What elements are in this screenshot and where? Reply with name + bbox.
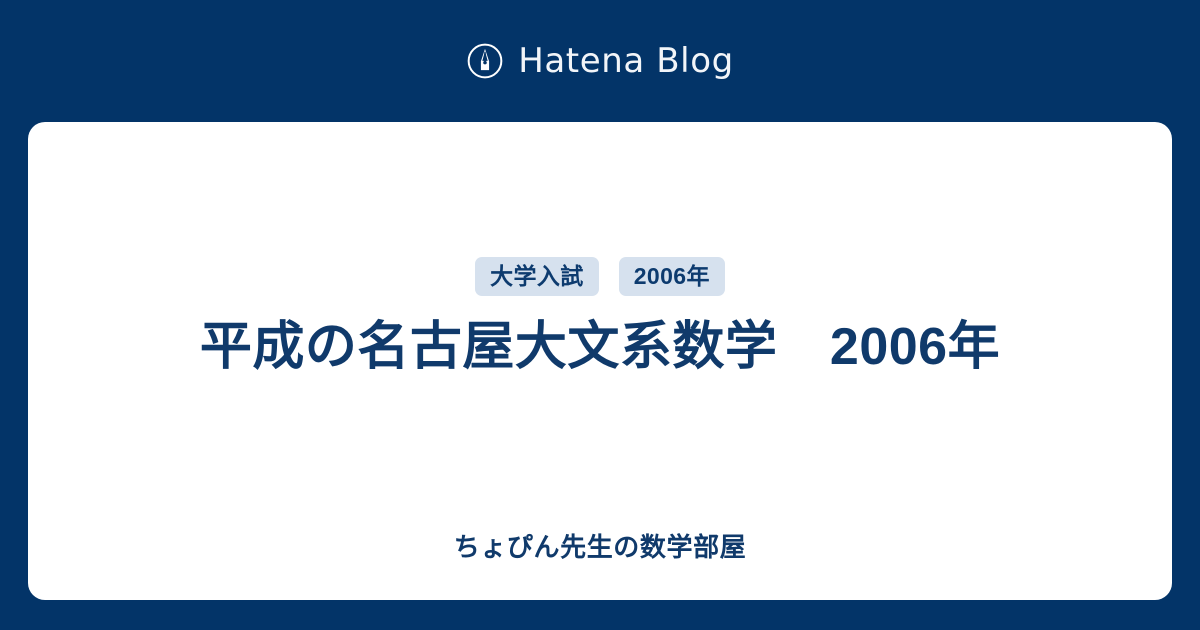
- hatena-blog-brand[interactable]: Hatena Blog: [0, 0, 1200, 122]
- blog-name[interactable]: ちょぴん先生の数学部屋: [28, 531, 1172, 565]
- entry-card: 大学入試 2006年 平成の名古屋大文系数学 2006年 ちょぴん先生の数学部屋: [28, 122, 1172, 600]
- hatena-pen-nib-icon: [466, 42, 504, 80]
- brand-name-label: Hatena Blog: [518, 44, 734, 78]
- tag-item[interactable]: 2006年: [619, 257, 725, 296]
- tag-list: 大学入試 2006年: [475, 257, 725, 296]
- entry-title[interactable]: 平成の名古屋大文系数学 2006年: [200, 316, 1000, 379]
- tag-item[interactable]: 大学入試: [475, 257, 599, 296]
- entry-card-content: 大学入試 2006年 平成の名古屋大文系数学 2006年: [28, 122, 1172, 414]
